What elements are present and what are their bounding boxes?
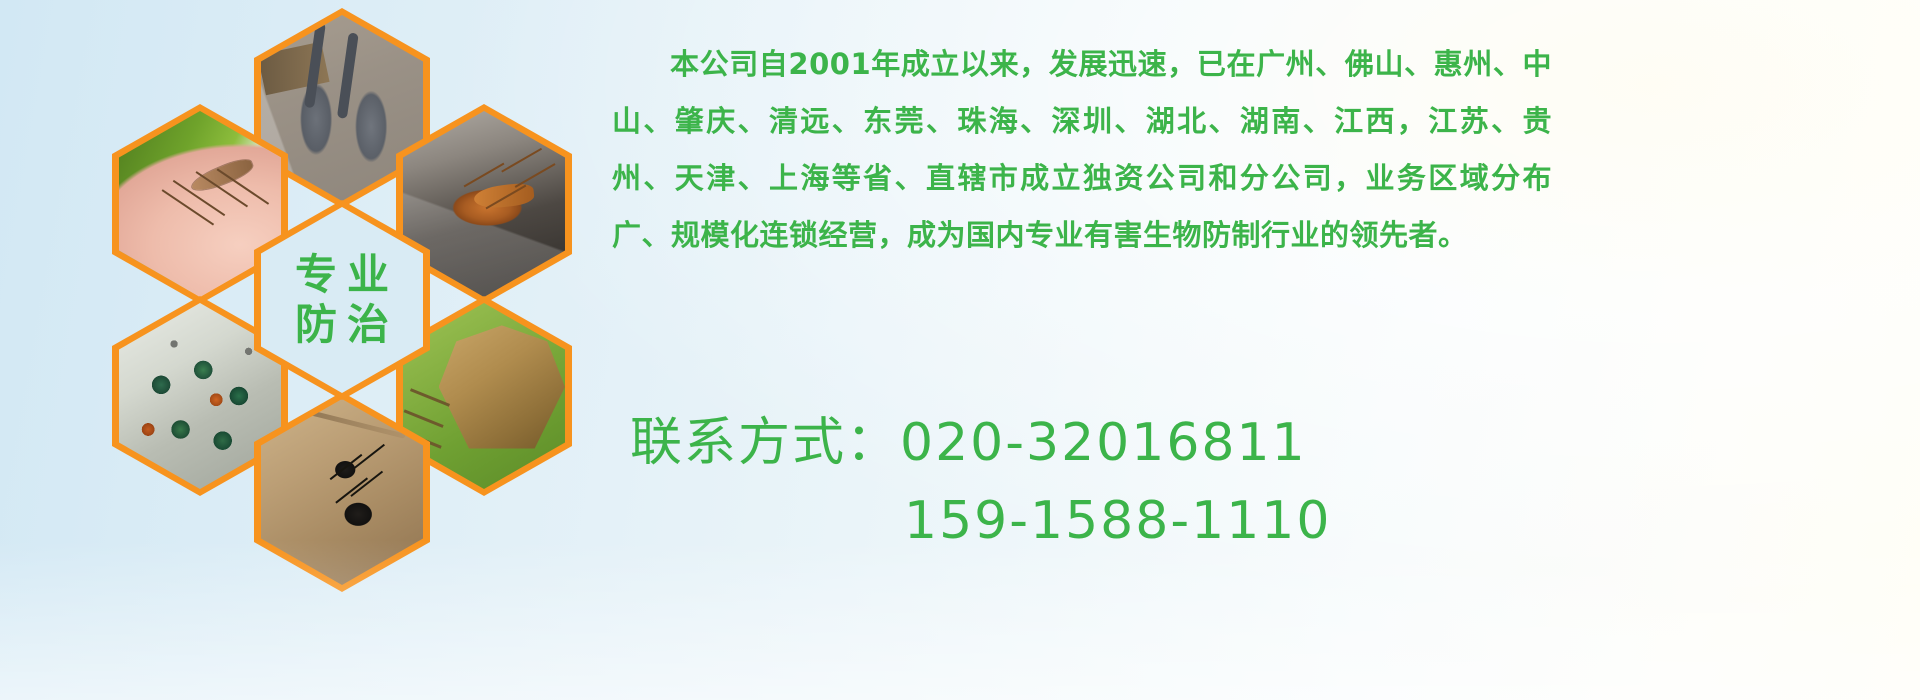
ant-photo [261,399,423,585]
slogan-line-1: 专业 [285,254,399,296]
contact-line-secondary: 159-1588-1110 [612,482,1572,560]
slogan-line-2: 防治 [285,304,399,346]
contact-block: 联系方式：020-32016811 159-1588-1110 [612,404,1572,560]
hex-inner: 专业 防治 [261,207,423,393]
hex-inner [261,399,423,585]
promo-banner: 专业 防治 本公司自2001年成立以来，发展迅速，已在广州、佛山、惠州、中山、肇… [0,0,1920,700]
company-description: 本公司自2001年成立以来，发展迅速，已在广州、佛山、惠州、中山、肇庆、清远、东… [612,36,1552,264]
contact-line-primary: 联系方式：020-32016811 [612,404,1572,482]
honeycomb-collage: 专业 防治 [88,0,588,594]
